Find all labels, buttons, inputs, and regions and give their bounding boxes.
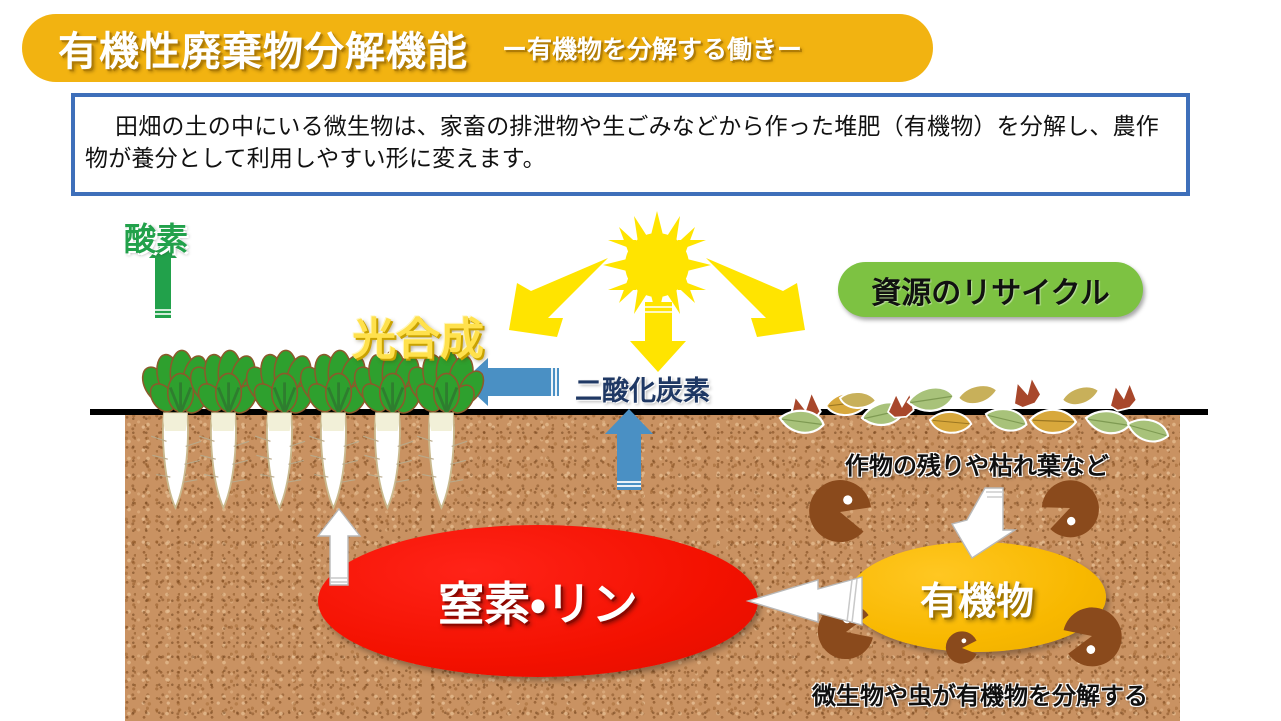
- sun-icon: [603, 211, 711, 319]
- description-box: 田畑の土の中にいる微生物は、家畜の排泄物や生ごみなどから作った堆肥（有機物）を分…: [71, 93, 1190, 196]
- carbon-dioxide-label: 二酸化炭素: [575, 369, 710, 408]
- nitrogen-phosphorus-label: 窒素・リン: [438, 568, 638, 634]
- microbe-caption-label: 微生物や虫が有機物を分解する: [812, 676, 1148, 711]
- page-title: 有機性廃棄物分解機能: [58, 19, 468, 77]
- title-banner: 有機性廃棄物分解機能 ー有機物を分解する働きー: [22, 14, 933, 82]
- description-text: 田畑の土の中にいる微生物は、家畜の排泄物や生ごみなどから作った堆肥（有機物）を分…: [75, 97, 1186, 174]
- sunlight-arrow-left: [509, 244, 621, 337]
- sunlight-arrow-down: [630, 302, 686, 372]
- organic-matter-label: 有機物: [920, 570, 1034, 625]
- slide-canvas: 有機性廃棄物分解機能 ー有機物を分解する働きー 田畑の土の中にいる微生物は、家畜…: [0, 0, 1281, 721]
- photosynthesis-label: 光合成: [352, 303, 484, 367]
- resource-recycle-badge: 資源のリサイクル: [838, 262, 1143, 317]
- nitrogen-phosphorus-ellipse: 窒素・リン: [318, 525, 758, 677]
- oxygen-label: 酸素: [124, 214, 188, 260]
- resource-recycle-label: 資源のリサイクル: [871, 268, 1110, 312]
- ground-line: [90, 409, 1208, 415]
- organic-matter-ellipse: 有機物: [848, 542, 1106, 652]
- sunlight-arrow-right: [693, 244, 805, 337]
- page-subtitle: ー有機物を分解する働きー: [502, 30, 802, 66]
- crop-residue-label: 作物の残りや枯れ葉など: [845, 446, 1109, 481]
